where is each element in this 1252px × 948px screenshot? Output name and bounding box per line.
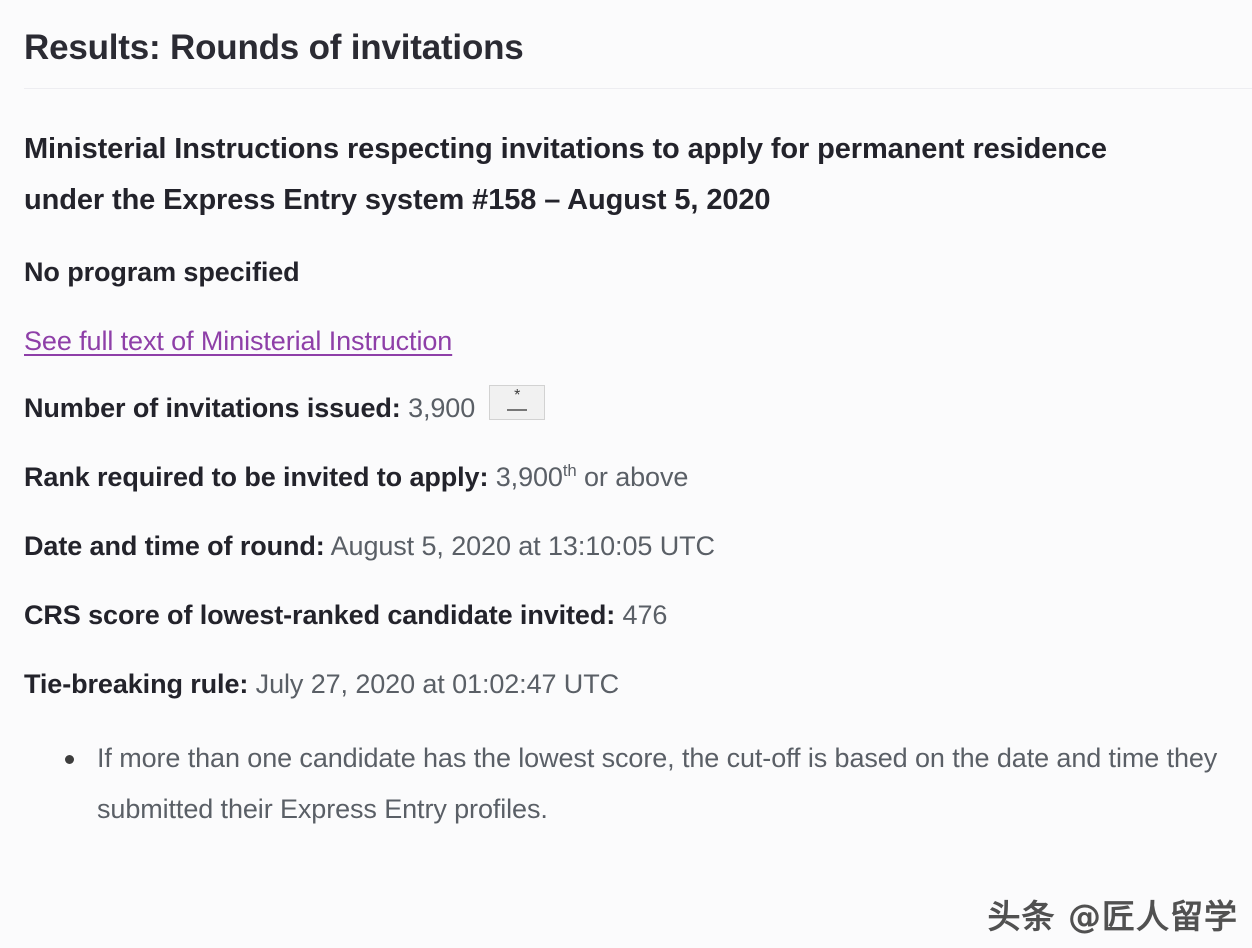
fact-tie-breaking-rule: Tie-breaking rule: July 27, 2020 at 01:0… (24, 664, 1224, 704)
results-page: Results: Rounds of invitations Ministeri… (0, 0, 1252, 948)
asterisk-icon: * (490, 387, 544, 405)
program-specified-label: No program specified (24, 252, 1224, 292)
fact-value: 3,900 (408, 393, 475, 423)
fact-label: Tie-breaking rule: (24, 669, 248, 699)
fact-label: Number of invitations issued: (24, 393, 401, 423)
fact-value: August 5, 2020 at 13:10:05 UTC (331, 531, 715, 561)
ordinal-suffix: th (563, 461, 577, 480)
fact-value-suffix: or above (577, 462, 689, 492)
see-full-text-link[interactable]: See full text of Ministerial Instruction (24, 322, 452, 360)
footnote-underline (507, 409, 527, 411)
fact-date-and-time: Date and time of round: August 5, 2020 a… (24, 526, 1224, 566)
fact-label: Rank required to be invited to apply: (24, 462, 488, 492)
content-area: Ministerial Instructions respecting invi… (24, 124, 1224, 835)
fact-label: Date and time of round: (24, 531, 325, 561)
page-title: Results: Rounds of invitations (24, 27, 524, 69)
ministerial-instruction-heading: Ministerial Instructions respecting invi… (24, 124, 1139, 226)
tie-breaking-notes-list: If more than one candidate has the lowes… (24, 733, 1224, 835)
fact-value: July 27, 2020 at 01:02:47 UTC (256, 669, 619, 699)
fact-invitations-issued: Number of invitations issued: 3,900 * (24, 388, 1224, 428)
fact-value: 3,900 (496, 462, 563, 492)
list-item: If more than one candidate has the lowes… (24, 733, 1224, 835)
fact-rank-required: Rank required to be invited to apply: 3,… (24, 457, 1224, 497)
title-divider (24, 88, 1252, 89)
watermark: 头条 @匠人留学 (988, 890, 1239, 938)
fact-label: CRS score of lowest-ranked candidate inv… (24, 600, 615, 630)
footnote-reference-link[interactable]: * (489, 385, 545, 420)
fact-crs-score: CRS score of lowest-ranked candidate inv… (24, 595, 1224, 635)
fact-value: 476 (623, 600, 668, 630)
